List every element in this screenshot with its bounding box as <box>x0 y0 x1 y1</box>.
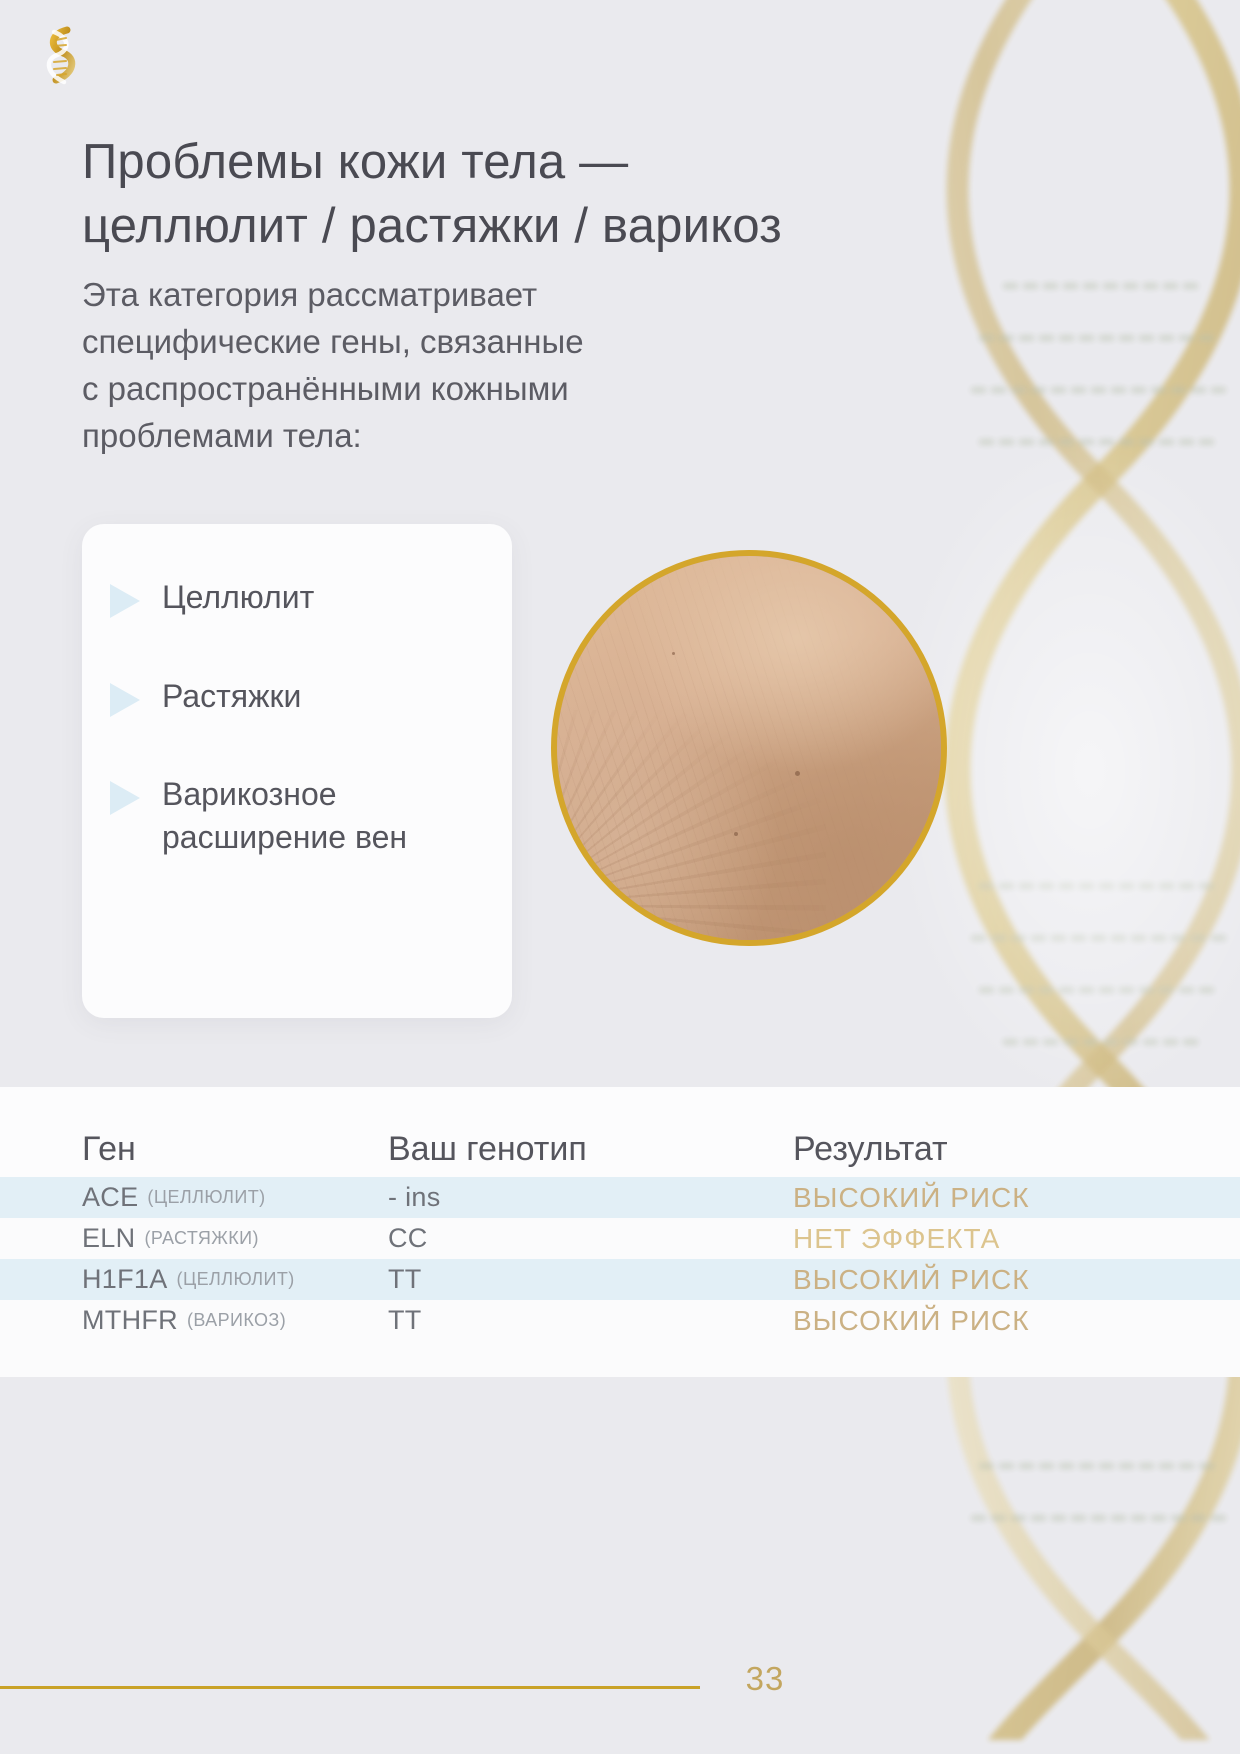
page-number: 33 <box>735 1660 795 1698</box>
list-item: Растяжки <box>110 675 492 718</box>
footer-divider <box>0 1686 700 1689</box>
cell-genotype: - ins <box>388 1177 441 1218</box>
conditions-list: Целлюлит Растяжки Варикозное расширение … <box>110 576 492 858</box>
page-title-line-1: Проблемы кожи тела — <box>82 131 942 195</box>
skin-fold-texture <box>551 710 826 946</box>
column-header-result: Результат <box>793 1087 948 1177</box>
gene-tag: (РАСТЯЖКИ) <box>144 1228 258 1249</box>
table-header-row: Ген Ваш генотип Результат <box>0 1087 1240 1177</box>
conditions-card: Целлюлит Растяжки Варикозное расширение … <box>82 524 512 1018</box>
cell-result: ВЫСОКИЙ РИСК <box>793 1259 1030 1300</box>
cell-genotype: TT <box>388 1259 422 1300</box>
condition-label: Растяжки <box>162 675 301 718</box>
dna-helix-icon <box>30 22 88 92</box>
cell-result: НЕТ ЭФФЕКТА <box>793 1218 1000 1259</box>
cell-genotype: TT <box>388 1300 422 1341</box>
genotype-value: TT <box>388 1264 422 1295</box>
condition-label: Варикозное расширение вен <box>162 773 492 858</box>
list-item: Целлюлит <box>110 576 492 619</box>
gene-tag: (ВАРИКОЗ) <box>187 1310 286 1331</box>
cell-result: ВЫСОКИЙ РИСК <box>793 1177 1030 1218</box>
status-badge: ВЫСОКИЙ РИСК <box>793 1264 1030 1296</box>
genotype-value: CC <box>388 1223 428 1254</box>
cell-gene: ACE (ЦЕЛЛЮЛИТ) <box>82 1177 265 1218</box>
intro-paragraph: Эта категория рассматривает специфически… <box>82 272 782 459</box>
genotype-results-table: Ген Ваш генотип Результат ACE (ЦЕЛЛЮЛИТ)… <box>0 1087 1240 1377</box>
gene-name: MTHFR <box>82 1305 178 1336</box>
page-title: Проблемы кожи тела — целлюлит / растяжки… <box>82 131 942 258</box>
intro-line-4: проблемами тела: <box>82 413 782 460</box>
cell-genotype: CC <box>388 1218 428 1259</box>
column-header-genotype: Ваш генотип <box>388 1087 587 1177</box>
list-item: Варикозное расширение вен <box>110 773 492 858</box>
cell-gene: MTHFR (ВАРИКОЗ) <box>82 1300 286 1341</box>
table-row: ELN (РАСТЯЖКИ) CC НЕТ ЭФФЕКТА <box>0 1218 1240 1259</box>
triangle-right-icon <box>110 584 140 618</box>
table-row: MTHFR (ВАРИКОЗ) TT ВЫСОКИЙ РИСК <box>0 1300 1240 1341</box>
genotype-value: TT <box>388 1305 422 1336</box>
genotype-value: - ins <box>388 1182 441 1213</box>
status-badge: ВЫСОКИЙ РИСК <box>793 1182 1030 1214</box>
table-row: ACE (ЦЕЛЛЮЛИТ) - ins ВЫСОКИЙ РИСК <box>0 1177 1240 1218</box>
cell-result: ВЫСОКИЙ РИСК <box>793 1300 1030 1341</box>
status-badge: НЕТ ЭФФЕКТА <box>793 1223 1000 1255</box>
intro-line-3: с распространёнными кожными <box>82 366 782 413</box>
page-title-line-2: целлюлит / растяжки / варикоз <box>82 195 942 259</box>
intro-line-1: Эта категория рассматривает <box>82 272 782 319</box>
cell-gene: H1F1A (ЦЕЛЛЮЛИТ) <box>82 1259 295 1300</box>
status-badge: ВЫСОКИЙ РИСК <box>793 1305 1030 1337</box>
triangle-right-icon <box>110 683 140 717</box>
gene-name: ACE <box>82 1182 138 1213</box>
triangle-right-icon <box>110 781 140 815</box>
cell-gene: ELN (РАСТЯЖКИ) <box>82 1218 259 1259</box>
gene-name: H1F1A <box>82 1264 168 1295</box>
table-footer-spacer <box>0 1341 1240 1377</box>
table-row: H1F1A (ЦЕЛЛЮЛИТ) TT ВЫСОКИЙ РИСК <box>0 1259 1240 1300</box>
column-header-gene: Ген <box>82 1087 136 1177</box>
skin-closeup-photo <box>551 550 947 946</box>
gene-name: ELN <box>82 1223 135 1254</box>
intro-line-2: специфические гены, связанные <box>82 319 782 366</box>
gene-tag: (ЦЕЛЛЮЛИТ) <box>177 1269 295 1290</box>
condition-label: Целлюлит <box>162 576 314 619</box>
gene-tag: (ЦЕЛЛЮЛИТ) <box>147 1187 265 1208</box>
